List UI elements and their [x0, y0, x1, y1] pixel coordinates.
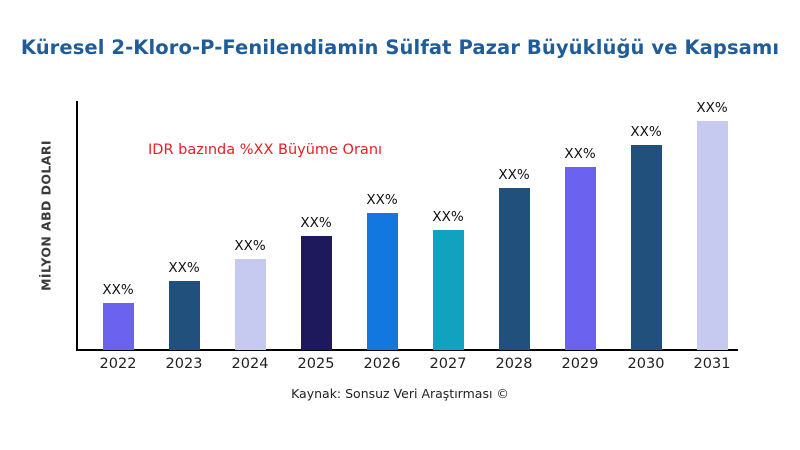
bar[interactable] — [235, 259, 266, 350]
bar[interactable] — [631, 145, 662, 350]
plot-area: XX%2022XX%2023XX%2024XX%2025XX%2026XX%20… — [0, 0, 800, 450]
x-axis-tick-label: 2022 — [85, 356, 151, 372]
bar[interactable] — [367, 213, 398, 350]
source-caption: Kaynak: Sonsuz Veri Araştırması © — [0, 386, 800, 401]
x-axis-tick-label: 2026 — [349, 356, 415, 372]
bar-value-label: XX% — [481, 167, 547, 183]
bar[interactable] — [433, 230, 464, 350]
bar[interactable] — [499, 188, 530, 350]
bar-value-label: XX% — [217, 238, 283, 254]
bar[interactable] — [697, 121, 728, 350]
bar[interactable] — [301, 236, 332, 350]
bar-value-label: XX% — [283, 215, 349, 231]
bar[interactable] — [169, 281, 200, 350]
x-axis-tick-label: 2029 — [547, 356, 613, 372]
bar-value-label: XX% — [349, 192, 415, 208]
x-axis-tick-label: 2023 — [151, 356, 217, 372]
chart-container: Küresel 2-Kloro-P-Fenilendiamin Sülfat P… — [0, 0, 800, 450]
bar-value-label: XX% — [415, 209, 481, 225]
growth-rate-annotation: IDR bazında %XX Büyüme Oranı — [148, 142, 382, 158]
bar-value-label: XX% — [679, 100, 745, 116]
x-axis-tick-label: 2027 — [415, 356, 481, 372]
bar[interactable] — [103, 303, 134, 350]
bar-value-label: XX% — [151, 260, 217, 276]
x-axis-tick-label: 2030 — [613, 356, 679, 372]
bar-value-label: XX% — [85, 282, 151, 298]
x-axis-tick-label: 2025 — [283, 356, 349, 372]
x-axis-tick-label: 2024 — [217, 356, 283, 372]
bar-value-label: XX% — [547, 146, 613, 162]
x-axis-tick-label: 2031 — [679, 356, 745, 372]
bar-value-label: XX% — [613, 124, 679, 140]
bar[interactable] — [565, 167, 596, 350]
x-axis-tick-label: 2028 — [481, 356, 547, 372]
